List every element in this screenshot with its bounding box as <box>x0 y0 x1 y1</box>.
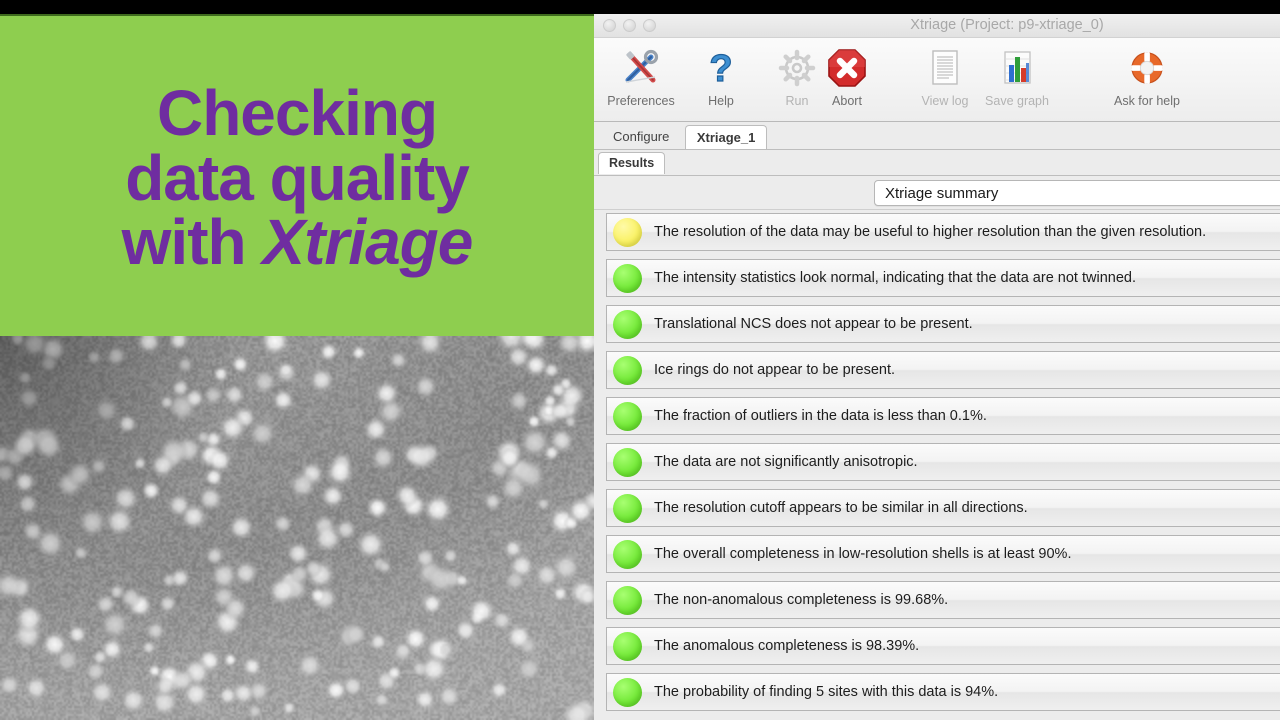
status-indicator-ok-icon <box>613 448 642 477</box>
status-indicator-ok-icon <box>613 632 642 661</box>
result-row-text: The resolution of the data may be useful… <box>654 224 1206 240</box>
toolbar-label-preferences: Preferences <box>607 94 674 108</box>
slide-title-line-3: with Xtriage <box>122 210 473 275</box>
toolbar-label-ask-for-help: Ask for help <box>1114 94 1180 108</box>
result-row[interactable]: The fraction of outliers in the data is … <box>606 397 1280 435</box>
main-toolbar: Preferences ? Help <box>594 38 1280 122</box>
slide-title-xtriage-word: Xtriage <box>262 206 472 278</box>
diffraction-canvas <box>0 336 594 720</box>
toolbar-label-help: Help <box>708 94 734 108</box>
window-title: Xtriage (Project: p9-xtriage_0) <box>594 17 1280 33</box>
slide-title-line-2: data quality <box>125 146 469 211</box>
result-row-text: Translational NCS does not appear to be … <box>654 316 973 332</box>
result-row[interactable]: The probability of finding 5 sites with … <box>606 673 1280 711</box>
status-indicator-ok-icon <box>613 540 642 569</box>
status-indicator-ok-icon <box>613 402 642 431</box>
presentation-slide-panel: Checking data quality with Xtriage <box>0 14 594 720</box>
svg-text:?: ? <box>709 48 732 89</box>
life-ring-icon <box>1126 44 1168 92</box>
slide-title-with-word: with <box>122 206 263 278</box>
status-indicator-ok-icon <box>613 264 642 293</box>
tab-configure[interactable]: Configure <box>602 125 680 147</box>
secondary-tab-bar: Results <box>594 150 1280 176</box>
result-row[interactable]: The non-anomalous completeness is 99.68%… <box>606 581 1280 619</box>
result-row-text: The data are not significantly anisotrop… <box>654 454 918 470</box>
window-titlebar: Xtriage (Project: p9-xtriage_0) <box>594 14 1280 38</box>
toolbar-label-save-graph: Save graph <box>985 94 1049 108</box>
result-row-text: The resolution cutoff appears to be simi… <box>654 500 1028 516</box>
status-indicator-ok-icon <box>613 310 642 339</box>
slide-title-line-1: Checking <box>157 81 437 146</box>
result-row[interactable]: Translational NCS does not appear to be … <box>606 305 1280 343</box>
result-row-text: The anomalous completeness is 98.39%. <box>654 638 919 654</box>
toolbar-button-ask-for-help[interactable]: Ask for help <box>1104 44 1190 108</box>
summary-selector-bar: Xtriage summary <box>594 176 1280 210</box>
diffraction-image <box>0 336 594 720</box>
result-row-text: The overall completeness in low-resoluti… <box>654 546 1071 562</box>
abort-octagon-icon <box>826 44 868 92</box>
result-row-text: The intensity statistics look normal, in… <box>654 270 1136 286</box>
toolbar-button-preferences[interactable]: Preferences <box>598 44 684 108</box>
result-row-text: The non-anomalous completeness is 99.68%… <box>654 592 948 608</box>
tab-xtriage-1[interactable]: Xtriage_1 <box>685 125 768 149</box>
result-row[interactable]: The anomalous completeness is 98.39%. <box>606 627 1280 665</box>
result-row-text: Ice rings do not appear to be present. <box>654 362 895 378</box>
xtriage-application-window: Xtriage (Project: p9-xtriage_0) <box>594 14 1280 720</box>
tab-results[interactable]: Results <box>598 152 665 174</box>
result-row-text: The fraction of outliers in the data is … <box>654 408 987 424</box>
toolbar-button-help[interactable]: ? Help <box>678 44 764 108</box>
xtriage-summary-dropdown[interactable]: Xtriage summary <box>874 180 1280 206</box>
result-row[interactable]: Ice rings do not appear to be present. <box>606 351 1280 389</box>
result-row[interactable]: The intensity statistics look normal, in… <box>606 259 1280 297</box>
document-icon <box>924 44 966 92</box>
status-indicator-ok-icon <box>613 356 642 385</box>
status-indicator-ok-icon <box>613 586 642 615</box>
tools-icon <box>620 44 662 92</box>
toolbar-button-abort[interactable]: Abort <box>804 44 890 108</box>
status-indicator-ok-icon <box>613 678 642 707</box>
result-row[interactable]: The overall completeness in low-resoluti… <box>606 535 1280 573</box>
xtriage-summary-dropdown-value: Xtriage summary <box>885 185 998 202</box>
result-row-text: The probability of finding 5 sites with … <box>654 684 998 700</box>
results-list[interactable]: The resolution of the data may be useful… <box>594 213 1280 720</box>
result-row[interactable]: The resolution cutoff appears to be simi… <box>606 489 1280 527</box>
question-mark-icon: ? <box>700 44 742 92</box>
bar-chart-icon <box>996 44 1038 92</box>
primary-tab-bar: Configure Xtriage_1 <box>594 122 1280 150</box>
screenshot-root: Checking data quality with Xtriage Xtria… <box>0 0 1280 720</box>
result-row[interactable]: The resolution of the data may be useful… <box>606 213 1280 251</box>
result-row[interactable]: The data are not significantly anisotrop… <box>606 443 1280 481</box>
toolbar-label-abort: Abort <box>832 94 862 108</box>
status-indicator-ok-icon <box>613 494 642 523</box>
toolbar-label-view-log: View log <box>921 94 968 108</box>
status-indicator-warning-icon <box>613 218 642 247</box>
slide-title-card: Checking data quality with Xtriage <box>0 14 594 336</box>
toolbar-button-save-graph[interactable]: Save graph <box>974 44 1060 108</box>
